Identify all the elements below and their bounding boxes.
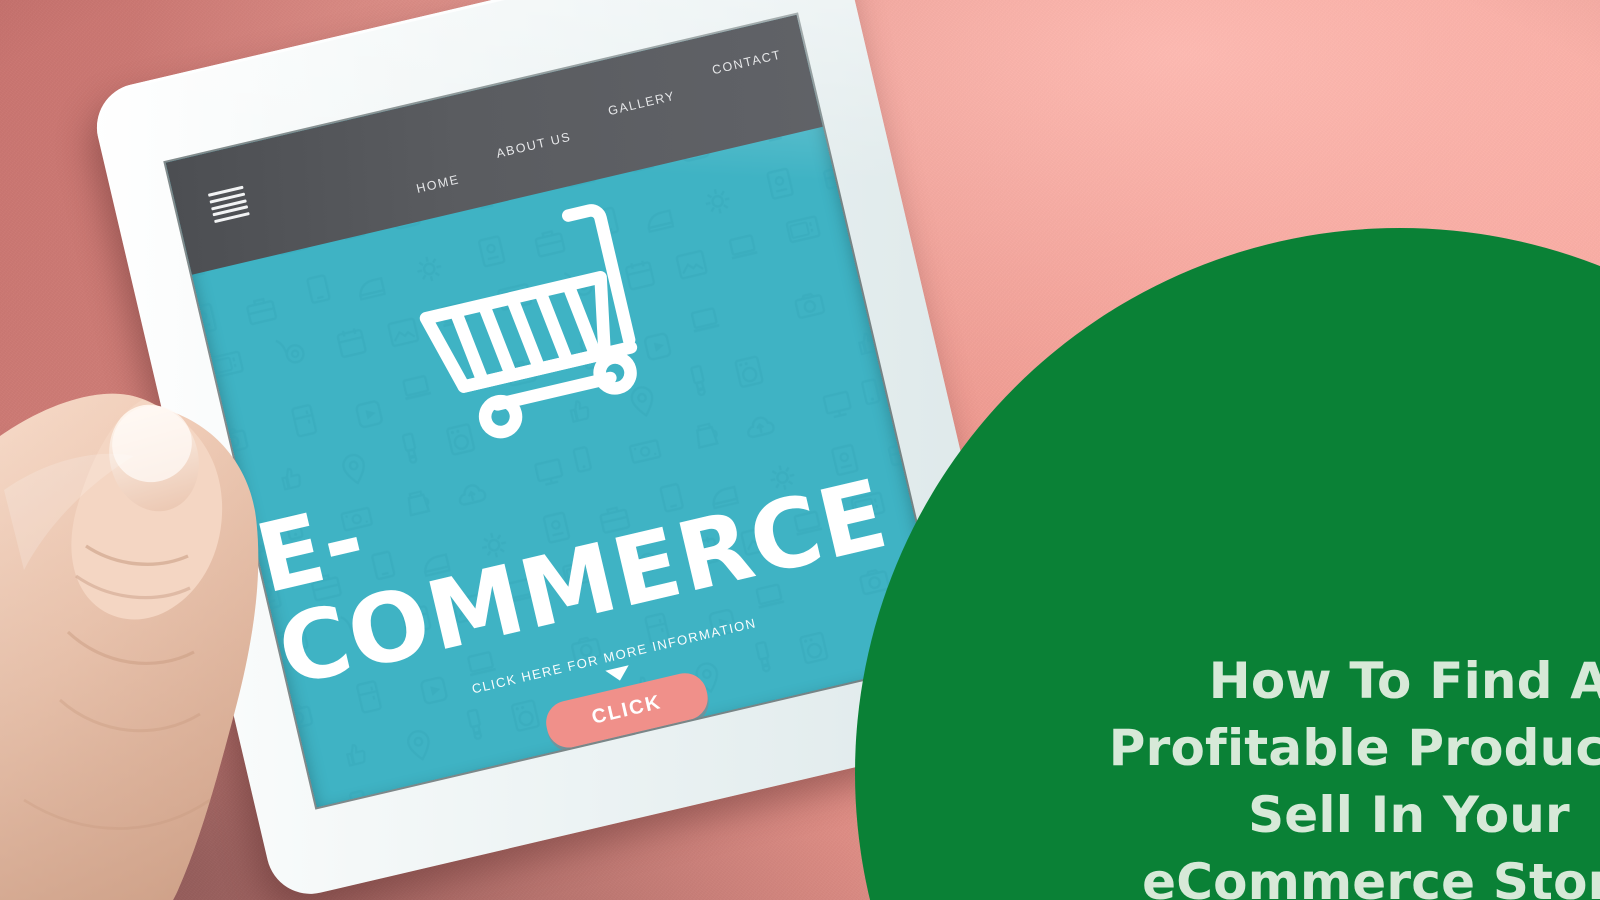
page-title: How To Find A Profitable Product To Sell… — [1089, 648, 1600, 900]
nav-link-contact[interactable]: CONTACT — [711, 48, 783, 78]
nav-link-gallery[interactable]: GALLERY — [607, 89, 677, 118]
nav-link-home[interactable]: HOME — [415, 172, 461, 196]
triangle-down-icon — [605, 665, 631, 683]
nav-link-about-us[interactable]: ABOUT US — [495, 130, 573, 161]
hand-holding-tablet — [0, 370, 434, 900]
promo-banner: HOME ABOUT US GALLERY CONTACT — [0, 0, 1600, 900]
site-nav-links: HOME ABOUT US GALLERY CONTACT — [404, 46, 783, 148]
hamburger-icon[interactable] — [208, 186, 250, 223]
click-cta-button[interactable]: CLICK — [542, 669, 712, 752]
